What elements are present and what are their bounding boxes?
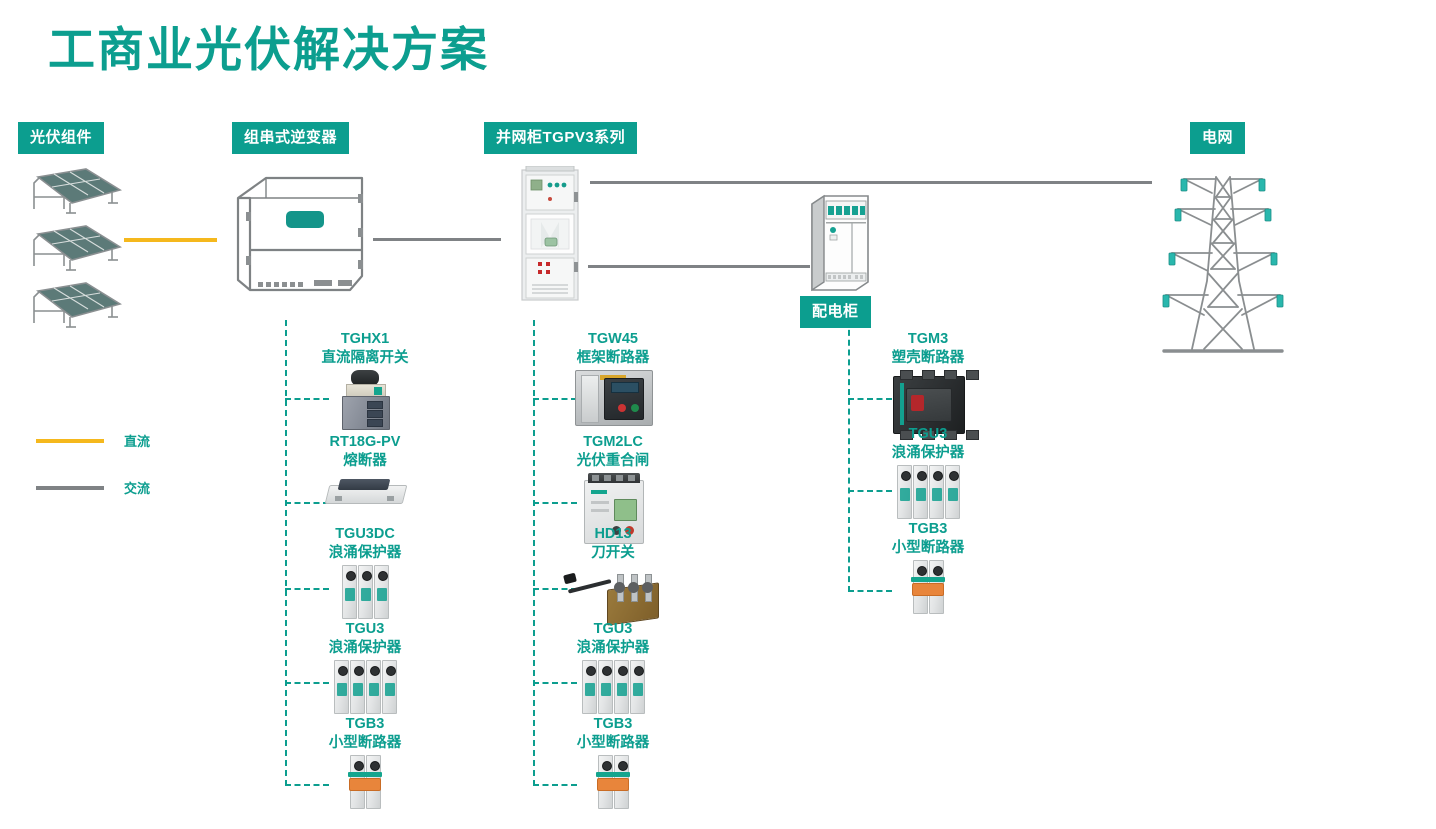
legend-label-ac: 交流: [124, 478, 150, 497]
component-node[interactable]: TGB3 小型断路器: [513, 715, 713, 813]
miniature-circuit-breaker-icon: [345, 755, 385, 813]
component-code: TGB3: [513, 715, 713, 734]
transmission-tower-illustration: [1160, 163, 1282, 356]
distribution-cabinet-illustration: [806, 194, 872, 290]
knife-switch-icon: [567, 570, 659, 626]
component-node[interactable]: TGW45 框架断路器: [513, 330, 713, 426]
badge-power-grid: 电网: [1190, 122, 1245, 154]
surge-protector-icon: [894, 465, 962, 521]
component-node[interactable]: TGB3 小型断路器: [265, 715, 465, 813]
air-circuit-breaker-icon: [575, 370, 651, 426]
component-name: 小型断路器: [513, 734, 713, 753]
surge-protector-icon: [331, 660, 399, 716]
fuse-icon: [327, 477, 403, 505]
miniature-circuit-breaker-icon: [908, 560, 948, 618]
branch-inverter-components: TGHX1 直流隔离开关 RT18G-PV 熔断器: [285, 320, 505, 820]
dc-isolator-icon: [338, 370, 392, 428]
component-node[interactable]: TGHX1 直流隔离开关: [265, 330, 465, 428]
component-name: 浪涌保护器: [265, 544, 465, 563]
string-inverter-illustration: [230, 168, 376, 303]
pv-module-array: [24, 163, 134, 333]
page-title: 工商业光伏解决方案: [48, 24, 489, 76]
component-node[interactable]: TGU3 浪涌保护器: [513, 620, 713, 716]
component-name: 浪涌保护器: [265, 639, 465, 658]
solution-diagram: 工商业光伏解决方案 光伏组件 组串式逆变器 并网柜TGPV3系列 配电柜 电网 …: [0, 0, 1436, 829]
component-code: TGU3: [265, 620, 465, 639]
component-name: 刀开关: [513, 544, 713, 563]
component-code: TGU3: [513, 620, 713, 639]
surge-protector-icon: [339, 565, 391, 621]
component-code: HD13: [513, 525, 713, 544]
component-code: TGW45: [513, 330, 713, 349]
ac-line-gridcabinet-to-grid: [590, 181, 1152, 184]
component-code: TGHX1: [265, 330, 465, 349]
dc-line-pv-to-inverter: [124, 238, 217, 242]
component-name: 光伏重合闸: [513, 452, 713, 471]
legend-line-ac-icon: [36, 486, 104, 490]
legend-item-ac: 交流: [36, 478, 150, 497]
surge-protector-icon: [579, 660, 647, 716]
component-name: 框架断路器: [513, 349, 713, 368]
ac-line-inverter-to-gridcabinet: [373, 238, 501, 241]
component-name: 直流隔离开关: [265, 349, 465, 368]
component-name: 浪涌保护器: [513, 639, 713, 658]
badge-grid-cabinet: 并网柜TGPV3系列: [484, 122, 637, 154]
component-node[interactable]: HD13 刀开关: [513, 525, 713, 626]
component-name: 熔断器: [265, 452, 465, 471]
component-node[interactable]: TGU3DC 浪涌保护器: [265, 525, 465, 621]
component-node[interactable]: RT18G-PV 熔断器: [265, 433, 465, 505]
component-code: TGM3: [828, 330, 1028, 349]
badge-string-inverter: 组串式逆变器: [232, 122, 349, 154]
component-name: 小型断路器: [828, 539, 1028, 558]
component-node[interactable]: TGU3 浪涌保护器: [828, 425, 1028, 521]
component-name: 小型断路器: [265, 734, 465, 753]
pv-panel-icon: [26, 277, 126, 331]
component-code: RT18G-PV: [265, 433, 465, 452]
component-code: TGM2LC: [513, 433, 713, 452]
component-code: TGU3DC: [265, 525, 465, 544]
component-node[interactable]: TGU3 浪涌保护器: [265, 620, 465, 716]
pv-panel-icon: [26, 220, 126, 274]
component-node[interactable]: TGB3 小型断路器: [828, 520, 1028, 618]
legend-label-dc: 直流: [124, 431, 150, 450]
pv-panel-icon: [26, 163, 126, 217]
component-node[interactable]: TGM3 塑壳断路器: [828, 330, 1028, 436]
badge-pv-modules: 光伏组件: [18, 122, 104, 154]
miniature-circuit-breaker-icon: [593, 755, 633, 813]
branch-distributioncabinet-components: TGM3 塑壳断路器 TGU3 浪涌保护器: [848, 320, 1068, 640]
legend-line-dc-icon: [36, 439, 104, 443]
ac-line-gridcabinet-to-distcabinet: [588, 265, 810, 268]
component-code: TGB3: [265, 715, 465, 734]
branch-gridcabinet-components: TGW45 框架断路器 TGM2LC 光伏重合闸: [533, 320, 753, 820]
component-code: TGU3: [828, 425, 1028, 444]
legend-item-dc: 直流: [36, 431, 150, 450]
component-code: TGB3: [828, 520, 1028, 539]
component-name: 塑壳断路器: [828, 349, 1028, 368]
grid-tie-cabinet-illustration: [519, 166, 579, 301]
component-name: 浪涌保护器: [828, 444, 1028, 463]
